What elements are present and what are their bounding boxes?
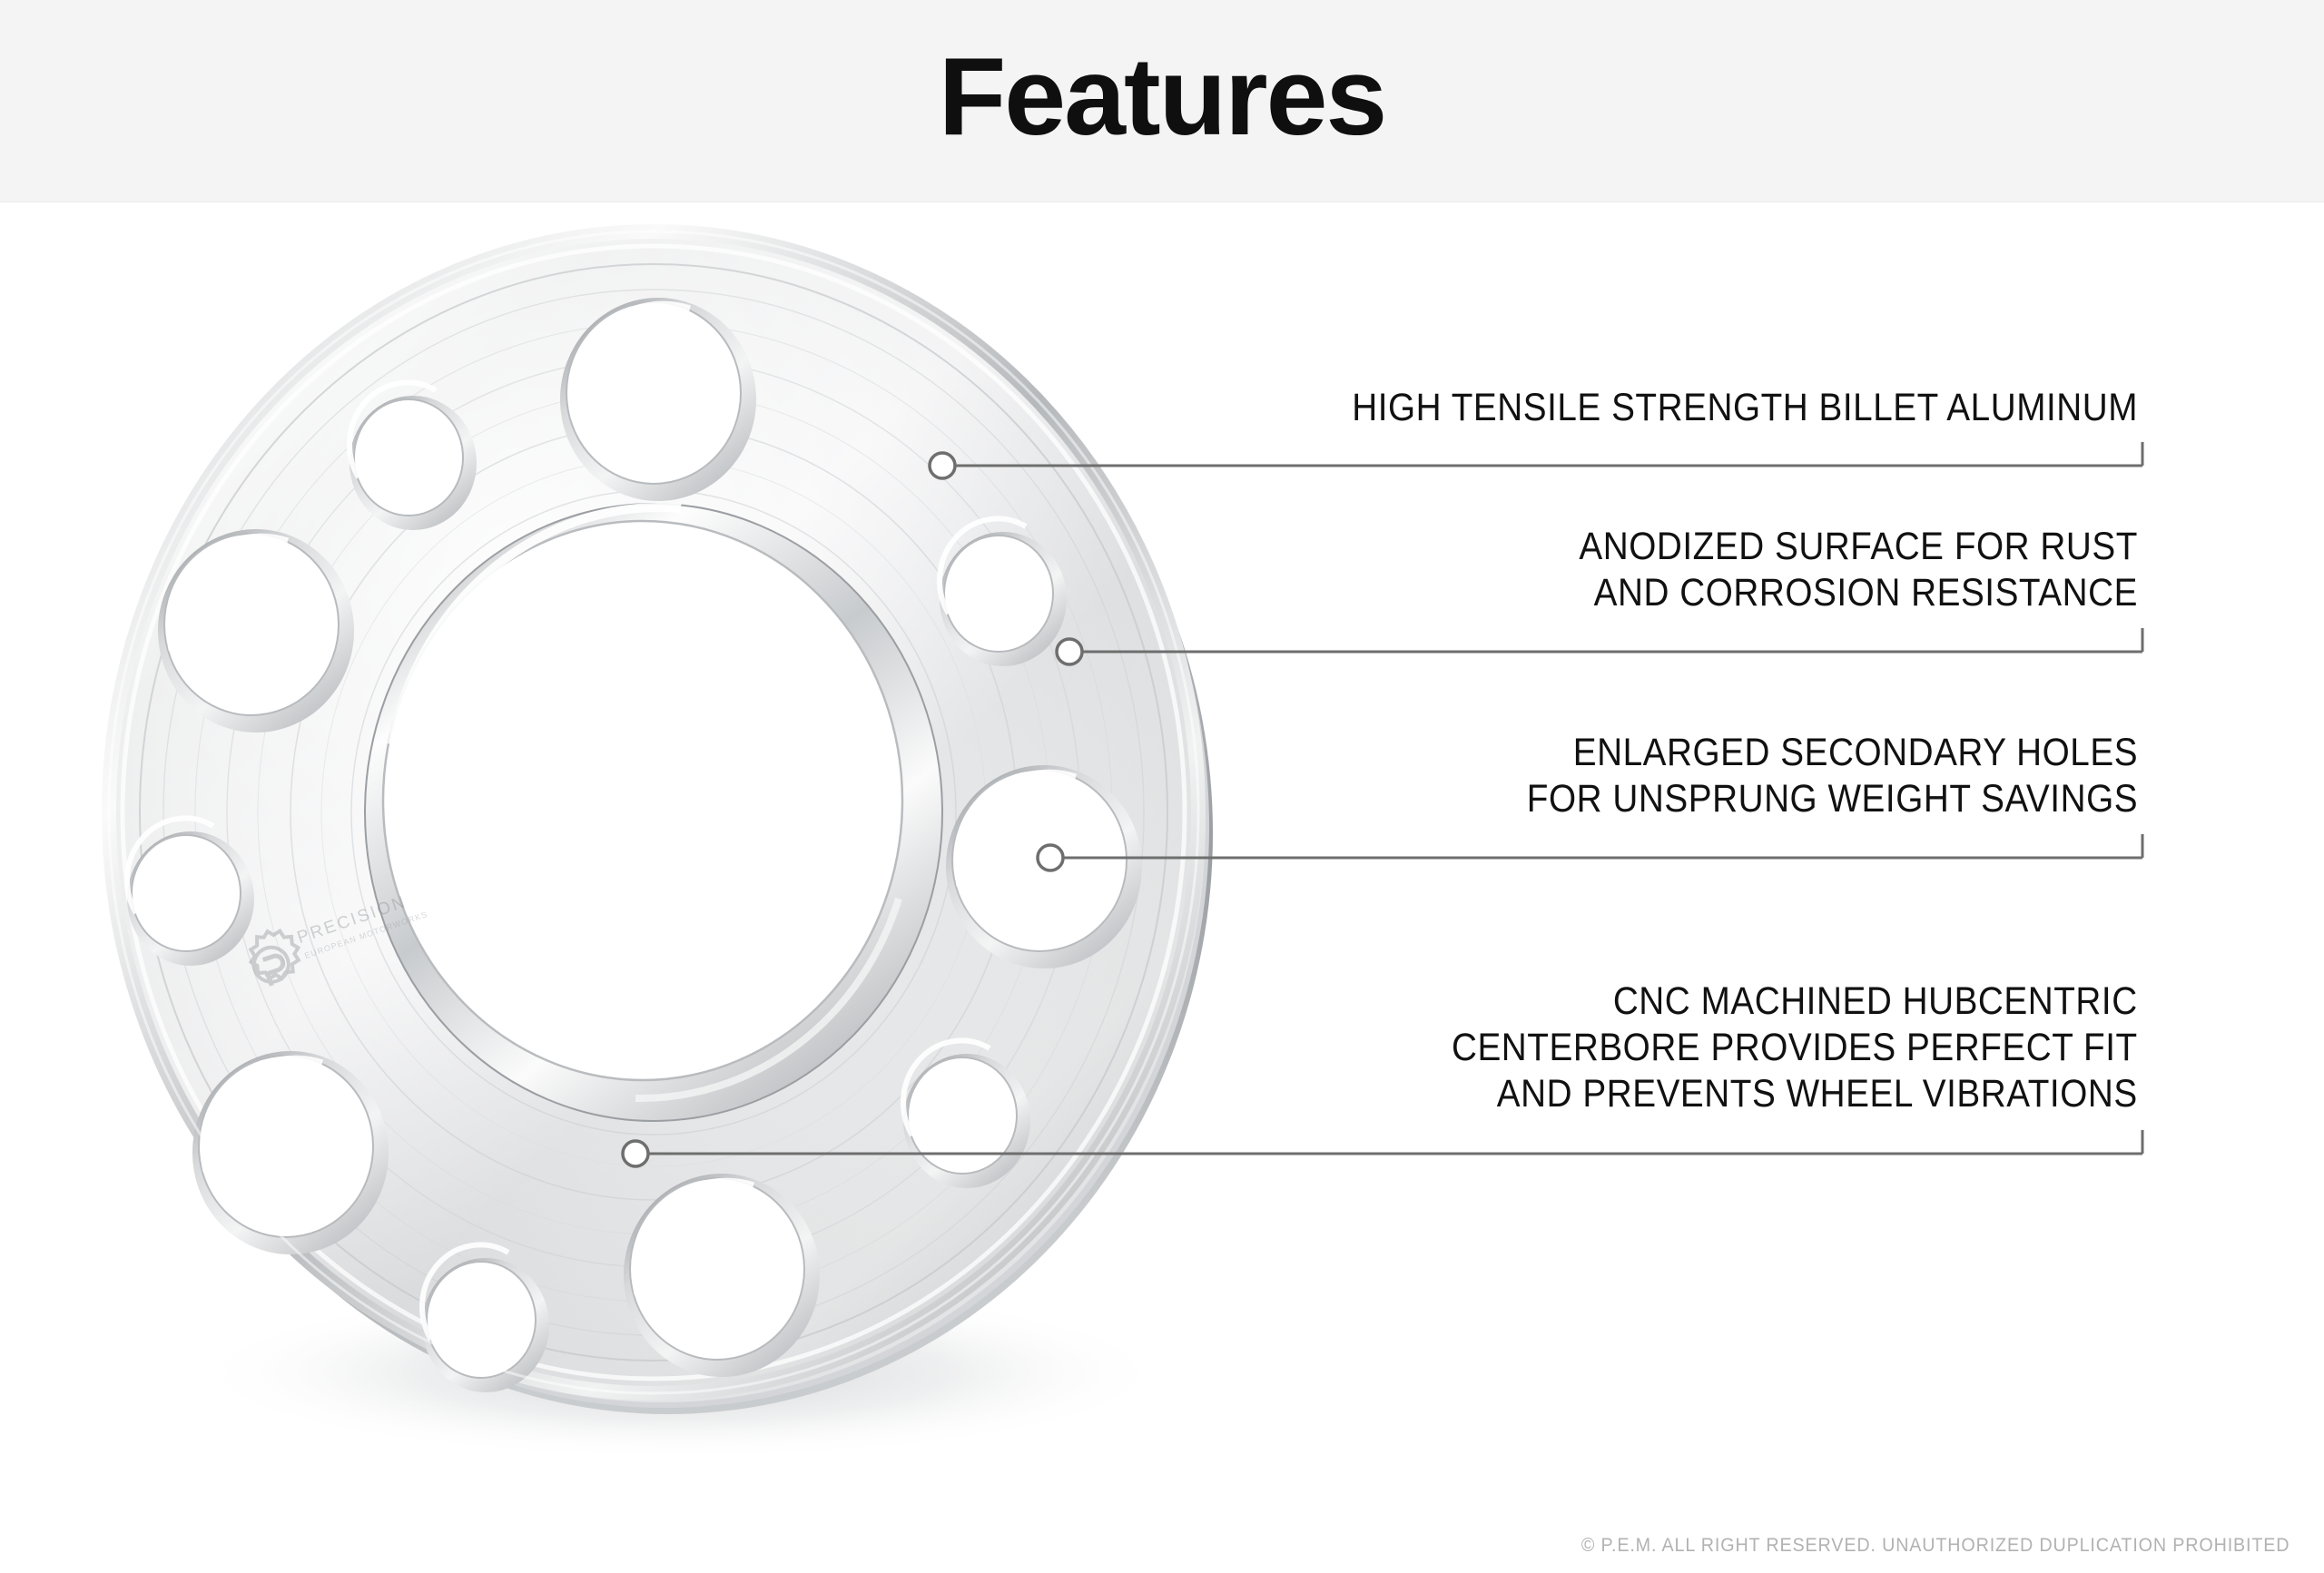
bolt-hole-large (158, 529, 354, 732)
callout-label-2: ANODIZED SURFACE FOR RUST AND CORROSION … (1579, 524, 2138, 616)
product-illustration (54, 209, 1325, 1480)
header-band: Features (0, 0, 2324, 202)
bolt-hole-large-enlarged (946, 765, 1142, 968)
callout-label-4: CNC MACHINED HUBCENTRIC CENTERBORE PROVI… (1452, 978, 2138, 1117)
centerbore (365, 504, 942, 1121)
page-title: Features (0, 0, 2324, 197)
bolt-hole-large (192, 1051, 389, 1254)
feature-diagram-page: Features (0, 0, 2324, 1573)
bolt-hole-large (560, 298, 756, 501)
footer-copyright: © P.E.M. ALL RIGHT RESERVED. UNAUTHORIZE… (1581, 1535, 2290, 1557)
callout-label-1: HIGH TENSILE STRENGTH BILLET ALUMINUM (1352, 385, 2138, 431)
bolt-hole-large (624, 1174, 820, 1377)
callout-label-3: ENLARGED SECONDARY HOLES FOR UNSPRUNG WE… (1527, 730, 2138, 822)
